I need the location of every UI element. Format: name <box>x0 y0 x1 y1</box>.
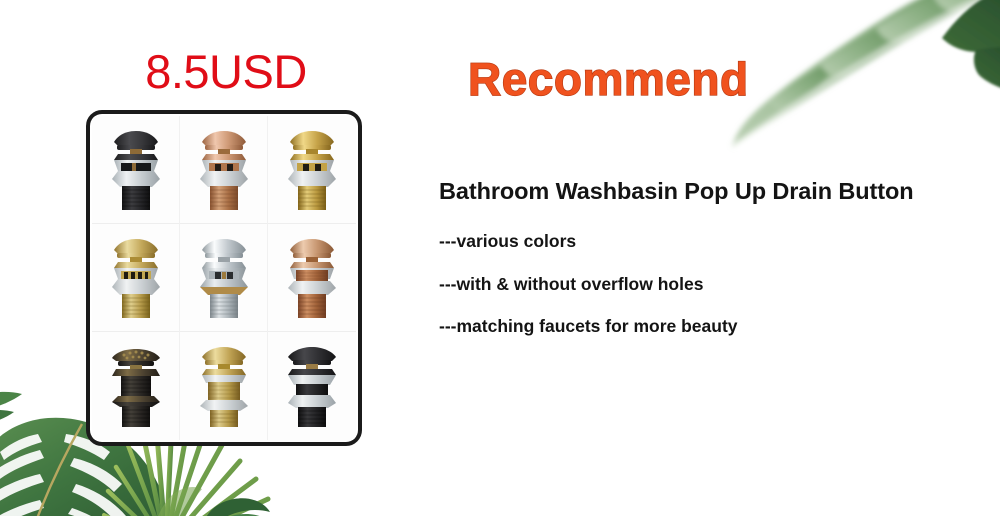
drain-icon <box>104 343 168 429</box>
drain-icon <box>192 343 256 429</box>
feature-item: ---matching faucets for more beauty <box>439 318 738 336</box>
product-cell-copper-drain <box>268 224 356 332</box>
product-grid <box>92 116 356 440</box>
feature-item: ---various colors <box>439 233 738 251</box>
drain-icon <box>192 127 256 213</box>
product-cell-polished-gold-drain <box>268 116 356 224</box>
product-image-card <box>86 110 362 446</box>
product-cell-black-chrome-drain <box>92 116 180 224</box>
product-cell-chrome-drain <box>180 224 268 332</box>
drain-icon <box>104 235 168 321</box>
drain-icon <box>280 127 344 213</box>
product-banner: 8.5USD <box>0 0 1000 516</box>
feature-list: ---various colors ---with & without over… <box>439 233 738 336</box>
product-headline: Bathroom Washbasin Pop Up Drain Button <box>439 178 913 205</box>
recommend-heading: Recommend <box>468 52 749 106</box>
drain-icon <box>104 127 168 213</box>
feature-item: ---with & without overflow holes <box>439 276 738 294</box>
product-cell-oil-rubbed-bronze-drain <box>92 332 180 440</box>
small-leaf-icon <box>196 490 272 516</box>
product-cell-rose-gold-drain <box>180 116 268 224</box>
drain-icon <box>280 343 344 429</box>
product-cell-matte-black-white-drain <box>268 332 356 440</box>
product-cell-satin-gold-drain <box>180 332 268 440</box>
price-label: 8.5USD <box>96 44 356 99</box>
drain-icon <box>280 235 344 321</box>
product-cell-brushed-gold-drain <box>92 224 180 332</box>
drain-icon <box>192 235 256 321</box>
